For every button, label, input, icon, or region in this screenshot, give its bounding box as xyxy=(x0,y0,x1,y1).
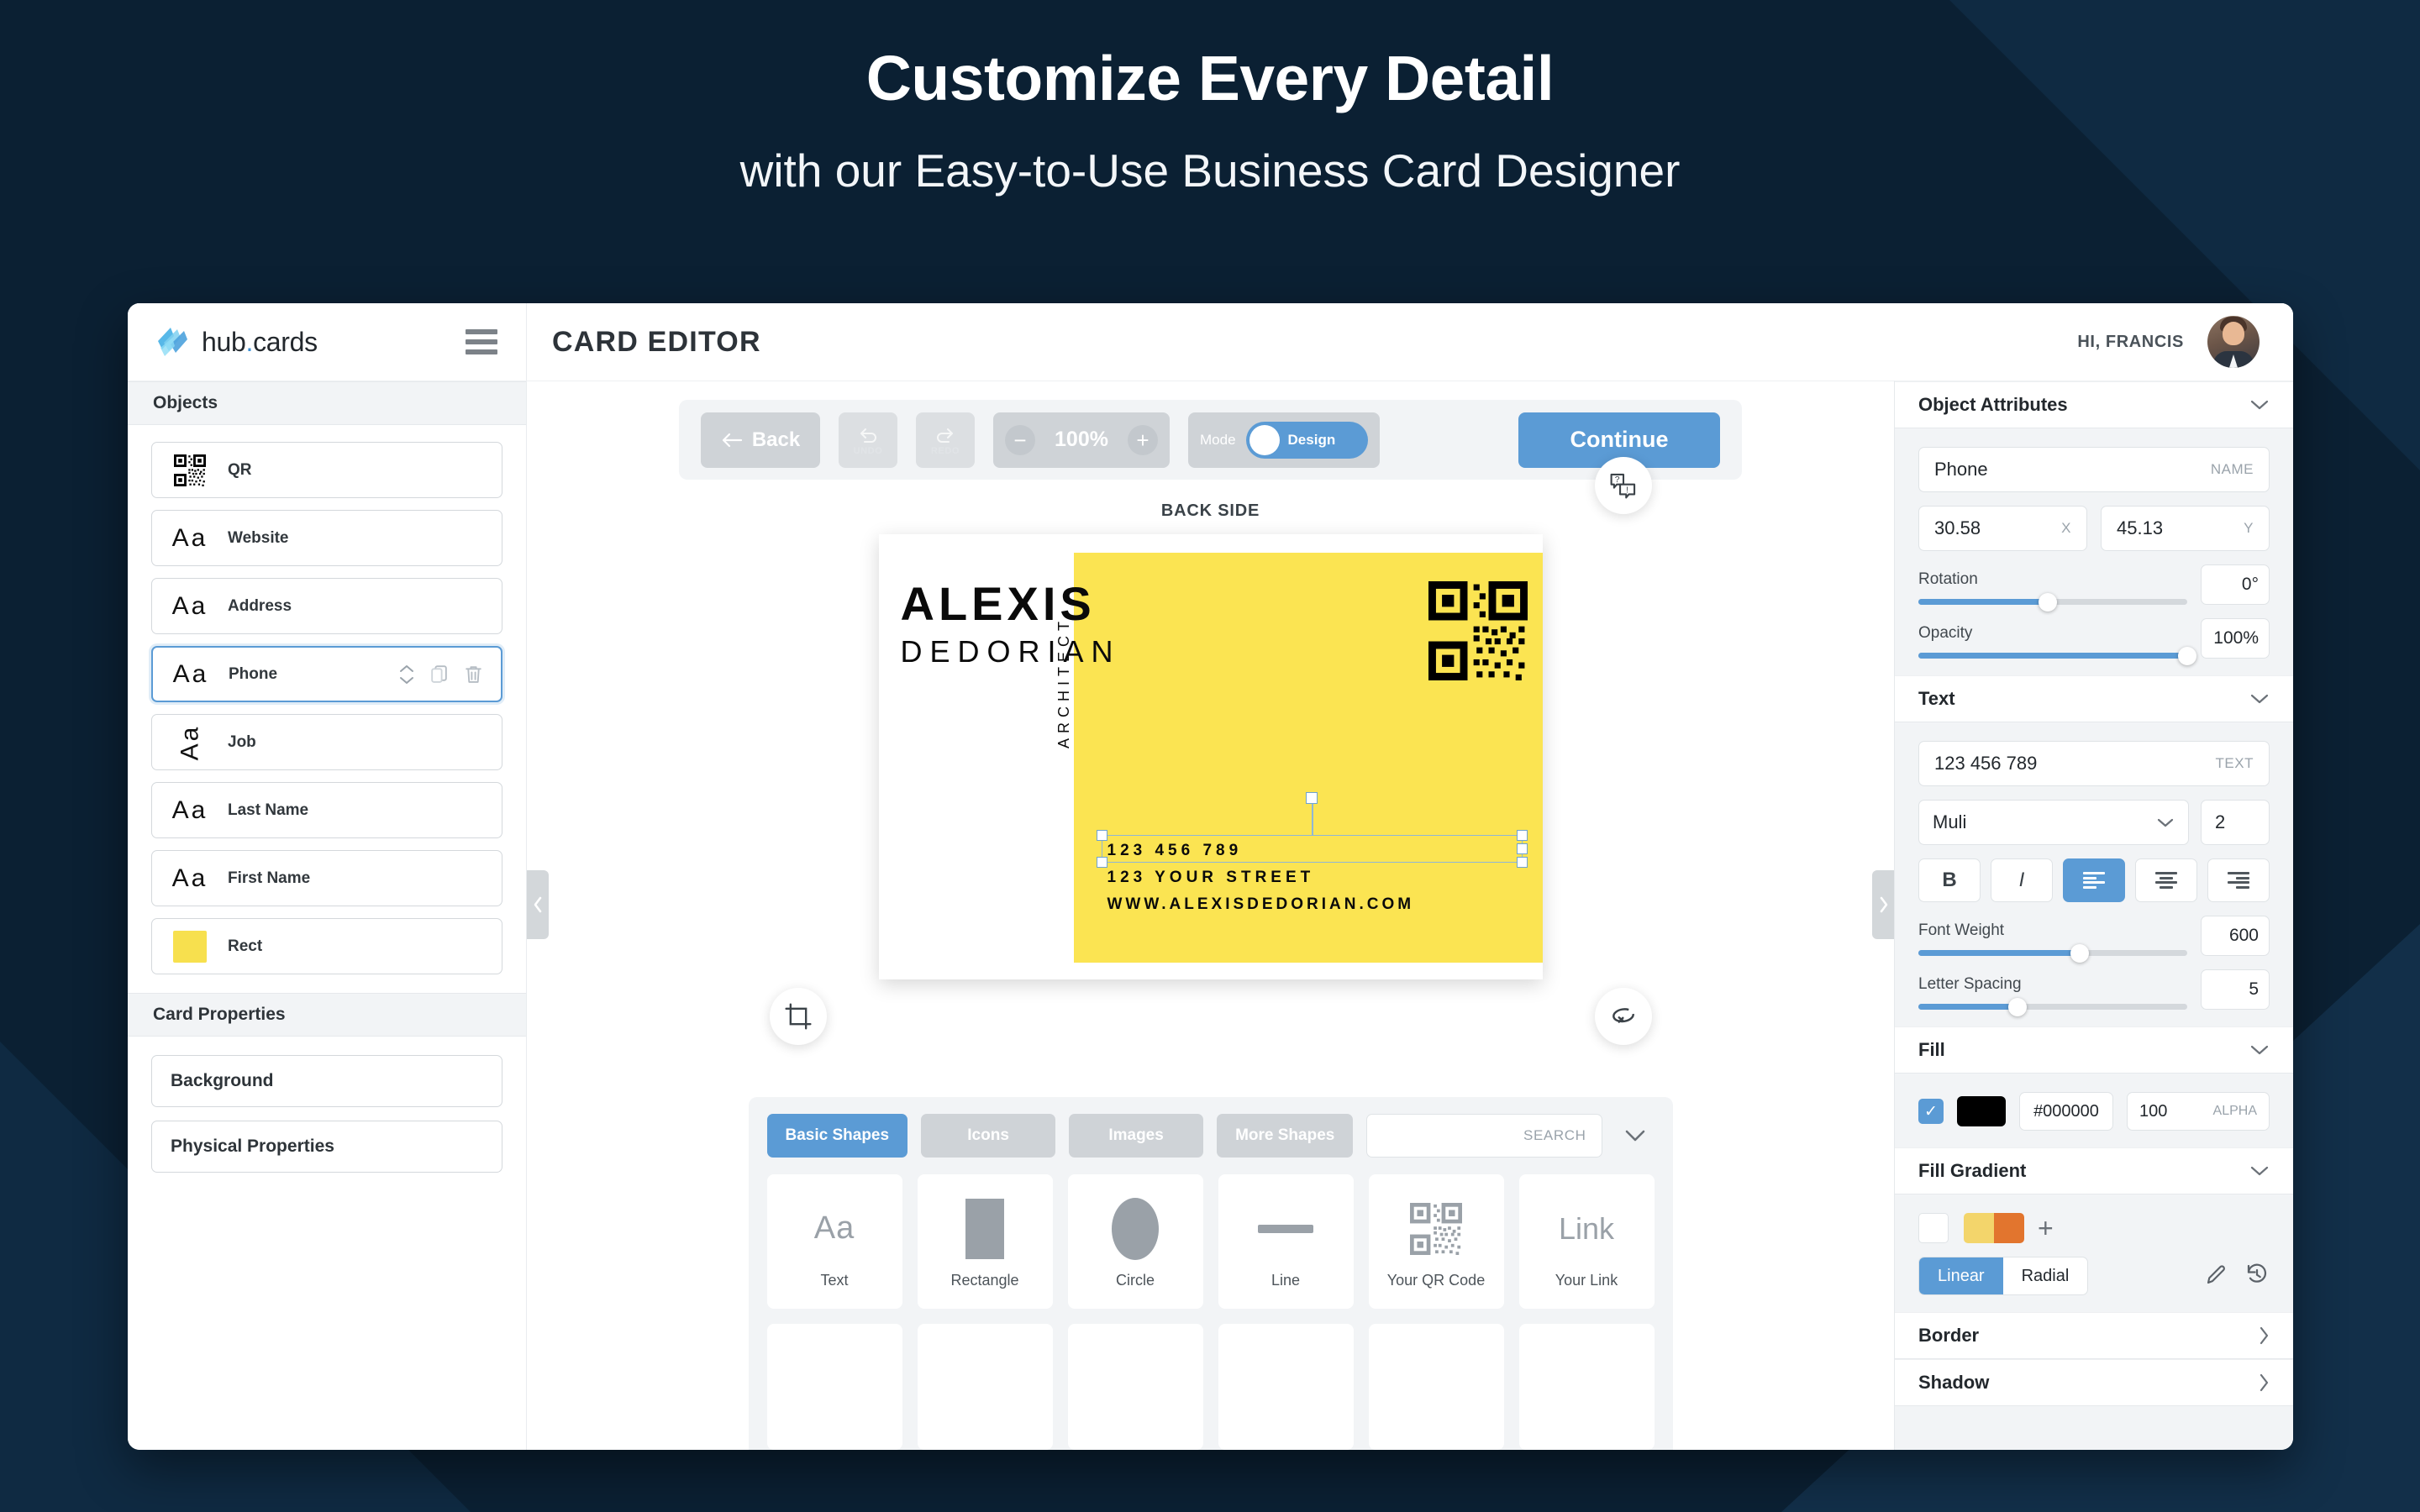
fill-section-body: ✓ #000000 100 ALPHA xyxy=(1895,1074,2293,1147)
chevron-down-icon xyxy=(2249,1165,2270,1177)
redo-button[interactable]: REDO xyxy=(916,412,975,468)
hero-title: Customize Every Detail xyxy=(0,44,2420,113)
undo-icon xyxy=(856,424,880,444)
position-y-input[interactable]: 45.13 Y xyxy=(2101,506,2270,551)
fill-alpha-suffix: ALPHA xyxy=(2213,1104,2257,1119)
gradient-stop-2[interactable] xyxy=(1994,1213,2024,1243)
rotation-value-input[interactable]: 0° xyxy=(2201,564,2270,605)
chevron-down-icon xyxy=(2156,817,2175,828)
resize-handle-r[interactable] xyxy=(1517,843,1528,854)
mode-toggle-knob xyxy=(1249,425,1280,455)
hero-subtitle: with our Easy-to-Use Business Card Desig… xyxy=(0,145,2420,197)
chevron-right-icon xyxy=(2258,1326,2270,1346)
reset-history-icon[interactable] xyxy=(2244,1262,2270,1291)
section-fill[interactable]: Fill xyxy=(1895,1026,2293,1074)
section-title: Text xyxy=(1918,688,1955,710)
collapse-right-panel-button[interactable] xyxy=(1872,870,1894,939)
card-property-physical[interactable]: Physical Properties xyxy=(151,1121,502,1173)
canvas-area: Back UNDO REDO − 100% + xyxy=(527,381,1894,1097)
rotation-control: Rotation 0° xyxy=(1918,564,2270,605)
text-aa-rotated-icon: Aa xyxy=(164,730,216,755)
zoom-level: 100% xyxy=(1055,428,1108,452)
tab-images[interactable]: Images xyxy=(1069,1114,1203,1158)
object-row-qr[interactable]: QR xyxy=(151,442,502,498)
letter-spacing-value-input[interactable]: 5 xyxy=(2201,969,2270,1010)
section-title: Object Attributes xyxy=(1918,394,2068,416)
qr-icon xyxy=(164,454,216,486)
avatar[interactable] xyxy=(2207,316,2260,368)
tab-more-shapes[interactable]: More Shapes xyxy=(1217,1114,1353,1158)
tab-basic-shapes[interactable]: Basic Shapes xyxy=(767,1114,908,1158)
duplicate-icon[interactable] xyxy=(429,664,450,685)
italic-button[interactable]: I xyxy=(1991,858,2053,902)
object-label: Website xyxy=(228,529,289,548)
card-wrapper: ALEXIS DEDORIAN ARCHITECT xyxy=(879,534,1543,979)
align-right-icon xyxy=(2228,870,2249,891)
font-weight-label: Font Weight xyxy=(1918,921,2187,940)
editor-canvas-column: Back UNDO REDO − 100% + xyxy=(527,381,1894,1450)
line-icon xyxy=(1258,1225,1313,1233)
color-swatch-icon xyxy=(164,931,216,963)
text-aa-icon: Aa xyxy=(814,1210,855,1247)
object-row-last-name[interactable]: Aa Last Name xyxy=(151,782,502,838)
fill-gradient-body: + Linear Radial xyxy=(1895,1194,2293,1312)
text-content-input[interactable]: 123 456 789 TEXT xyxy=(1918,741,2270,786)
editor-toolbar: Back UNDO REDO − 100% + xyxy=(679,400,1742,480)
object-label: Phone xyxy=(229,665,277,684)
chevron-right-icon xyxy=(2258,1373,2270,1393)
user-zone[interactable]: HI, FRANCIS xyxy=(2077,316,2260,368)
shape-placeholder[interactable] xyxy=(1519,1324,1655,1450)
card-last-name-text[interactable]: DEDORIAN xyxy=(901,637,1121,667)
flip-card-icon[interactable] xyxy=(1595,988,1652,1045)
text-aa-icon: Aa xyxy=(164,798,216,823)
top-bar: hub.cards CARD EDITOR HI, FRANCIS xyxy=(128,303,2293,381)
link-icon: Link xyxy=(1559,1211,1614,1247)
opacity-slider[interactable] xyxy=(1918,653,2187,659)
arrow-left-icon xyxy=(721,433,743,448)
undo-button[interactable]: UNDO xyxy=(839,412,897,468)
gradient-linear-button[interactable]: Linear xyxy=(1919,1257,2003,1294)
shape-rectangle[interactable]: Rectangle xyxy=(918,1174,1053,1309)
gradient-stop-none[interactable] xyxy=(1918,1213,1949,1243)
italic-label: I xyxy=(2019,869,2025,892)
fill-alpha-input[interactable]: 100 ALPHA xyxy=(2127,1092,2270,1131)
redo-label: REDO xyxy=(931,446,960,456)
card-side-caption: BACK SIDE xyxy=(1161,501,1260,521)
section-title: Fill xyxy=(1918,1039,1945,1061)
card-qr-icon[interactable] xyxy=(1428,581,1528,680)
position-inputs: 30.58 X 45.13 Y xyxy=(1918,506,2270,551)
brand-text: hub.cards xyxy=(202,327,318,358)
objects-panel-header: Objects xyxy=(128,381,526,425)
shape-line[interactable]: Line xyxy=(1218,1174,1354,1309)
position-y-suffix: Y xyxy=(2244,520,2254,537)
shape-link[interactable]: Link Your Link xyxy=(1519,1174,1655,1309)
rotate-handle[interactable] xyxy=(1306,792,1318,804)
rotation-label: Rotation xyxy=(1918,570,2187,589)
letter-spacing-control: Letter Spacing 5 xyxy=(1918,969,2270,1010)
resize-handle-br[interactable] xyxy=(1517,857,1528,868)
objects-sidebar: Objects xyxy=(128,381,527,1450)
gradient-stop-1[interactable] xyxy=(1964,1213,1994,1243)
text-content-suffix: TEXT xyxy=(2216,755,2254,772)
font-family-value: Muli xyxy=(1933,811,1966,833)
text-section-body: 123 456 789 TEXT Muli 2 B I xyxy=(1895,722,2293,1026)
help-icon[interactable]: ?! xyxy=(1595,457,1652,514)
object-label: Last Name xyxy=(228,801,308,820)
resize-handle-tr[interactable] xyxy=(1517,830,1528,841)
shape-label: Your QR Code xyxy=(1387,1272,1485,1289)
text-aa-icon: Aa xyxy=(164,526,216,551)
section-text[interactable]: Text xyxy=(1895,675,2293,722)
object-name-value: Phone xyxy=(1934,459,1988,480)
object-name-suffix: NAME xyxy=(2211,461,2254,478)
shapes-tabs: Basic Shapes Icons Images More Shapes SE… xyxy=(767,1114,1655,1158)
card-properties-header: Card Properties xyxy=(128,993,526,1037)
position-y-value: 45.13 xyxy=(2117,517,2163,539)
card-properties-list: Background Physical Properties xyxy=(128,1037,526,1191)
rotate-stem xyxy=(1312,799,1313,836)
add-gradient-stop-button[interactable]: + xyxy=(2038,1215,2054,1242)
shapes-shelf: Basic Shapes Icons Images More Shapes SE… xyxy=(749,1097,1673,1450)
app-body: Objects xyxy=(128,381,2293,1450)
properties-panel: Object Attributes Phone NAME 30.58 X 45.… xyxy=(1894,381,2293,1450)
text-aa-icon: Aa xyxy=(165,662,217,687)
search-input[interactable]: SEARCH xyxy=(1366,1114,1602,1158)
zoom-in-button[interactable]: + xyxy=(1128,425,1158,455)
shape-text[interactable]: Aa Text xyxy=(767,1174,902,1309)
position-x-value: 30.58 xyxy=(1934,517,1981,539)
delete-icon[interactable] xyxy=(463,664,484,685)
svg-text:!: ! xyxy=(1626,486,1628,496)
collapse-left-panel-button[interactable] xyxy=(527,870,549,939)
chevron-down-icon xyxy=(1623,1128,1647,1143)
chevron-up-icon xyxy=(398,664,415,674)
section-title: Fill Gradient xyxy=(1918,1160,2026,1182)
font-weight-slider[interactable] xyxy=(1918,950,2187,956)
chevron-down-icon xyxy=(2249,1044,2270,1056)
selection-box[interactable] xyxy=(1102,835,1523,863)
align-left-icon xyxy=(2083,870,2105,891)
shapes-grid: Aa Text Rectangle Circle Line xyxy=(767,1174,1655,1450)
mode-value: Design xyxy=(1288,432,1336,449)
object-label: First Name xyxy=(228,869,310,888)
shape-label: Line xyxy=(1271,1272,1300,1289)
align-right-button[interactable] xyxy=(2207,858,2270,902)
object-row-tools xyxy=(398,664,489,685)
shape-label: Text xyxy=(820,1272,848,1289)
fill-color-swatch[interactable] xyxy=(1957,1096,2006,1126)
undo-label: UNDO xyxy=(854,446,883,456)
text-format-buttons: B I xyxy=(1918,858,2270,902)
page-title: CARD EDITOR xyxy=(552,326,761,359)
shape-label: Your Link xyxy=(1555,1272,1618,1289)
fill-enabled-checkbox[interactable]: ✓ xyxy=(1918,1099,1944,1124)
qr-icon xyxy=(1410,1203,1462,1255)
business-card-canvas[interactable]: ALEXIS DEDORIAN ARCHITECT xyxy=(879,534,1543,979)
fill-alpha-value: 100 xyxy=(2139,1102,2167,1121)
shape-placeholder[interactable] xyxy=(918,1324,1053,1450)
shape-qr-code[interactable]: Your QR Code xyxy=(1369,1174,1504,1309)
section-border[interactable]: Border xyxy=(1895,1312,2293,1359)
zoom-control: − 100% + xyxy=(993,412,1170,468)
card-property-background[interactable]: Background xyxy=(151,1055,502,1107)
opacity-value-input[interactable]: 100% xyxy=(2201,618,2270,659)
mode-toggle[interactable]: Design xyxy=(1246,422,1368,459)
mode-control: Mode Design xyxy=(1188,412,1380,468)
reorder-stepper[interactable] xyxy=(398,664,415,685)
chevron-down-icon xyxy=(398,675,415,685)
shape-label: Rectangle xyxy=(950,1272,1018,1289)
bold-button[interactable]: B xyxy=(1918,858,1981,902)
section-title: Border xyxy=(1918,1325,1979,1347)
align-left-button[interactable] xyxy=(2063,858,2125,902)
object-row-address[interactable]: Aa Address xyxy=(151,578,502,634)
crop-icon[interactable] xyxy=(770,988,827,1045)
chevron-right-icon xyxy=(1878,895,1889,914)
opacity-label: Opacity xyxy=(1918,624,2187,643)
gradient-actions xyxy=(2204,1262,2270,1291)
object-label: QR xyxy=(228,461,252,480)
editor-header: CARD EDITOR HI, FRANCIS xyxy=(527,303,2293,381)
object-label: Rect xyxy=(228,937,262,956)
greeting-label: HI, FRANCIS xyxy=(2077,333,2184,352)
tab-icons[interactable]: Icons xyxy=(921,1114,1055,1158)
object-row-phone[interactable]: Aa Phone xyxy=(151,646,502,702)
object-row-website[interactable]: Aa Website xyxy=(151,510,502,566)
gradient-radial-button[interactable]: Radial xyxy=(2003,1257,2088,1294)
chevron-down-icon xyxy=(2249,399,2270,411)
collapse-shelf-button[interactable] xyxy=(1616,1128,1655,1143)
font-row: Muli 2 xyxy=(1918,800,2270,845)
gradient-type-segment: Linear Radial xyxy=(1918,1257,2088,1295)
section-object-attributes[interactable]: Object Attributes xyxy=(1895,381,2293,428)
brand-logo-group[interactable]: hub.cards xyxy=(155,324,318,360)
object-label: Job xyxy=(228,733,256,752)
position-x-suffix: X xyxy=(2061,520,2071,537)
align-center-icon xyxy=(2155,870,2177,891)
back-button[interactable]: Back xyxy=(701,412,820,468)
gradient-stops: + xyxy=(1918,1213,2270,1243)
edit-pencil-icon[interactable] xyxy=(2204,1262,2229,1291)
font-weight-control: Font Weight 600 xyxy=(1918,916,2270,956)
object-row-job[interactable]: Aa Job xyxy=(151,714,502,770)
rectangle-icon xyxy=(965,1199,1004,1259)
text-aa-icon: Aa xyxy=(164,594,216,619)
resize-handle-bl[interactable] xyxy=(1097,857,1107,868)
text-aa-icon: Aa xyxy=(164,866,216,891)
section-fill-gradient[interactable]: Fill Gradient xyxy=(1895,1147,2293,1194)
object-attributes-body: Phone NAME 30.58 X 45.13 Y Rotation xyxy=(1895,428,2293,675)
mode-label: Mode xyxy=(1200,432,1236,449)
app-window: hub.cards CARD EDITOR HI, FRANCIS Object… xyxy=(128,303,2293,1450)
section-title: Shadow xyxy=(1918,1372,1989,1394)
circle-icon xyxy=(1112,1198,1159,1260)
opacity-control: Opacity 100% xyxy=(1918,618,2270,659)
card-address-text[interactable]: 123 YOUR STREET xyxy=(1107,869,1315,885)
redo-icon xyxy=(934,424,957,444)
back-label: Back xyxy=(752,428,800,452)
fill-row: ✓ #000000 100 ALPHA xyxy=(1918,1092,2270,1131)
hub-cards-logo-icon xyxy=(155,324,191,360)
hamburger-menu-icon[interactable] xyxy=(466,329,497,354)
font-family-select[interactable]: Muli xyxy=(1918,800,2189,845)
object-row-first-name[interactable]: Aa First Name xyxy=(151,850,502,906)
align-center-button[interactable] xyxy=(2135,858,2197,902)
shape-placeholder[interactable] xyxy=(1068,1324,1203,1450)
shape-placeholder[interactable] xyxy=(767,1324,902,1450)
object-row-rect[interactable]: Rect xyxy=(151,918,502,974)
chevron-down-icon xyxy=(2249,693,2270,705)
chevron-left-icon xyxy=(533,895,544,914)
hero-section: Customize Every Detail with our Easy-to-… xyxy=(0,0,2420,196)
shape-placeholder[interactable] xyxy=(1218,1324,1354,1450)
font-weight-value-input[interactable]: 600 xyxy=(2201,916,2270,956)
text-content-value: 123 456 789 xyxy=(1934,753,2037,774)
card-website-text[interactable]: WWW.ALEXISDEDORIAN.COM xyxy=(1107,896,1415,912)
object-name-input[interactable]: Phone NAME xyxy=(1918,447,2270,492)
section-shadow[interactable]: Shadow xyxy=(1895,1359,2293,1406)
svg-text:?: ? xyxy=(1614,475,1619,485)
object-label: Address xyxy=(228,597,292,616)
shape-placeholder[interactable] xyxy=(1369,1324,1504,1450)
font-size-input[interactable]: 2 xyxy=(2201,800,2270,845)
resize-handle-tl[interactable] xyxy=(1097,830,1107,841)
bold-label: B xyxy=(1942,869,1956,892)
letter-spacing-label: Letter Spacing xyxy=(1918,975,2187,994)
rotation-slider[interactable] xyxy=(1918,599,2187,605)
shape-circle[interactable]: Circle xyxy=(1068,1174,1203,1309)
shape-label: Circle xyxy=(1116,1272,1155,1289)
gradient-mode-row: Linear Radial xyxy=(1918,1257,2270,1295)
fill-hex-input[interactable]: #000000 xyxy=(2019,1092,2113,1131)
position-x-input[interactable]: 30.58 X xyxy=(1918,506,2087,551)
brand-zone: hub.cards xyxy=(128,303,527,381)
search-placeholder: SEARCH xyxy=(1523,1127,1586,1144)
letter-spacing-slider[interactable] xyxy=(1918,1004,2187,1010)
zoom-out-button[interactable]: − xyxy=(1005,425,1035,455)
card-job-text[interactable]: ARCHITECT xyxy=(1055,617,1073,748)
objects-list: QR Aa Website Aa Address Aa Phone xyxy=(128,425,526,979)
